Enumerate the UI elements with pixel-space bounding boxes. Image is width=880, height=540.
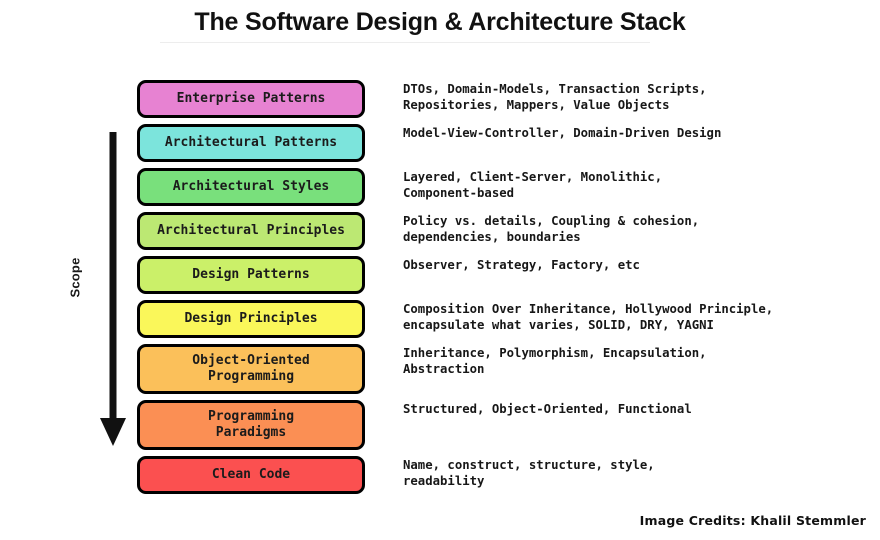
layer-box-clean-code[interactable]: Clean Code — [137, 456, 365, 494]
layer-box-object-oriented-programming[interactable]: Object-Oriented Programming — [137, 344, 365, 394]
layer-label: Clean Code — [212, 467, 290, 483]
stack-row: Enterprise PatternsDTOs, Domain-Models, … — [137, 80, 837, 119]
stack-row: Architectural StylesLayered, Client-Serv… — [137, 168, 837, 207]
layer-box-architectural-styles[interactable]: Architectural Styles — [137, 168, 365, 206]
stack-row: Design PatternsObserver, Strategy, Facto… — [137, 256, 837, 295]
title-divider — [160, 42, 650, 43]
architecture-stack: Enterprise PatternsDTOs, Domain-Models, … — [137, 80, 837, 500]
layer-box-enterprise-patterns[interactable]: Enterprise Patterns — [137, 80, 365, 118]
layer-label: Programming Paradigms — [208, 409, 294, 441]
layer-description-enterprise-patterns: DTOs, Domain-Models, Transaction Scripts… — [403, 80, 837, 119]
layer-label: Design Principles — [184, 311, 317, 327]
scope-axis-label: Scope — [68, 233, 83, 323]
layer-box-architectural-patterns[interactable]: Architectural Patterns — [137, 124, 365, 162]
layer-description-clean-code: Name, construct, structure, style, reada… — [403, 456, 837, 495]
layer-description-design-patterns: Observer, Strategy, Factory, etc — [403, 256, 837, 295]
layer-box-programming-paradigms[interactable]: Programming Paradigms — [137, 400, 365, 450]
page-title: The Software Design & Architecture Stack — [0, 8, 880, 37]
layer-description-design-principles: Composition Over Inheritance, Hollywood … — [403, 300, 837, 339]
image-credits: Image Credits: Khalil Stemmler — [640, 513, 866, 528]
stack-row: Programming ParadigmsStructured, Object-… — [137, 400, 837, 451]
layer-box-design-patterns[interactable]: Design Patterns — [137, 256, 365, 294]
down-arrow-icon — [100, 130, 126, 448]
layer-label: Enterprise Patterns — [177, 91, 326, 107]
stack-row: Object-Oriented ProgrammingInheritance, … — [137, 344, 837, 395]
stack-row: Design PrinciplesComposition Over Inheri… — [137, 300, 837, 339]
layer-description-object-oriented-programming: Inheritance, Polymorphism, Encapsulation… — [403, 344, 837, 395]
layer-description-programming-paradigms: Structured, Object-Oriented, Functional — [403, 400, 837, 451]
layer-description-architectural-styles: Layered, Client-Server, Monolithic, Comp… — [403, 168, 837, 207]
layer-box-design-principles[interactable]: Design Principles — [137, 300, 365, 338]
stack-row: Architectural PrinciplesPolicy vs. detai… — [137, 212, 837, 251]
stack-row: Architectural PatternsModel-View-Control… — [137, 124, 837, 163]
layer-label: Architectural Principles — [157, 223, 345, 239]
layer-description-architectural-principles: Policy vs. details, Coupling & cohesion,… — [403, 212, 837, 251]
scope-axis: Scope — [52, 130, 142, 450]
stack-row: Clean CodeName, construct, structure, st… — [137, 456, 837, 495]
layer-label: Design Patterns — [192, 267, 309, 283]
layer-label: Object-Oriented Programming — [192, 353, 309, 385]
layer-description-architectural-patterns: Model-View-Controller, Domain-Driven Des… — [403, 124, 837, 163]
layer-label: Architectural Styles — [173, 179, 330, 195]
layer-box-architectural-principles[interactable]: Architectural Principles — [137, 212, 365, 250]
layer-label: Architectural Patterns — [165, 135, 337, 151]
